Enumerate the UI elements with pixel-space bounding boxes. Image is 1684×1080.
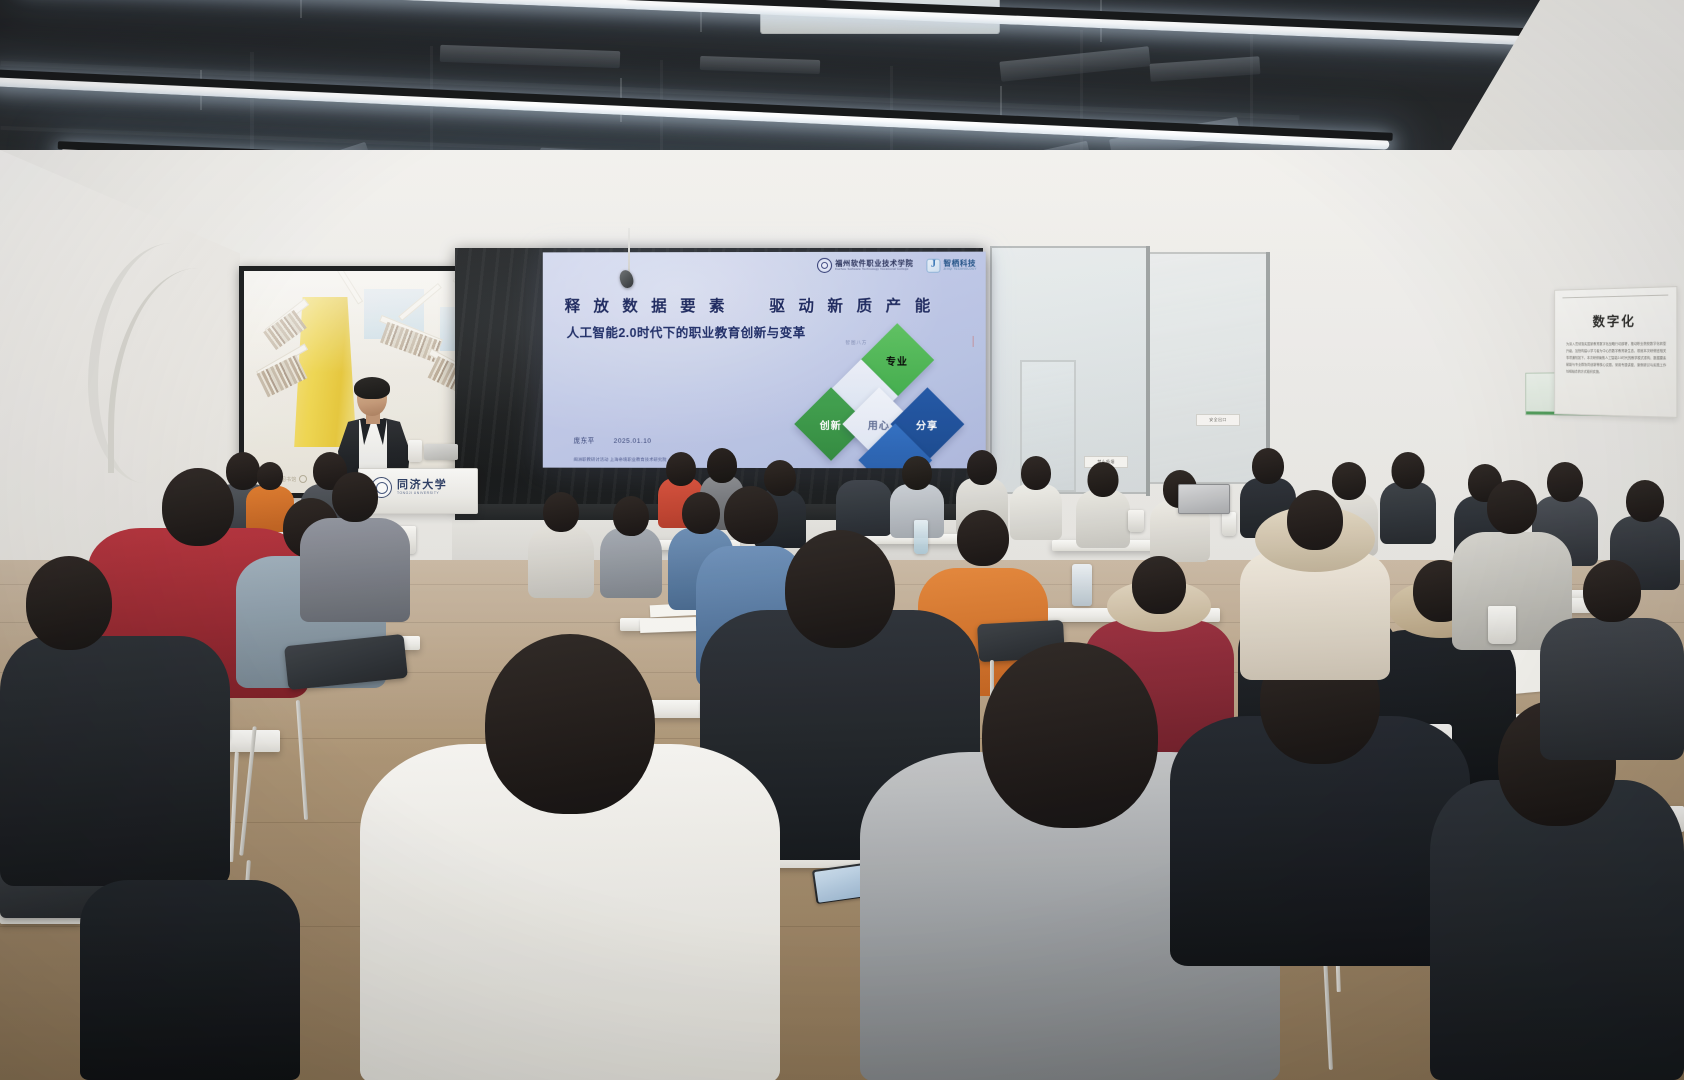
lecture-hall-scene: 请保持安静 禁止吸烟 安全出口 数字化 为深入贯彻落实国家教育数字化战略行动部署… [0, 0, 1684, 1080]
slide-logo-row: 福州软件职业技术学院 Fuzhou Software Technology Vo… [817, 258, 977, 273]
audience-member [1170, 636, 1470, 966]
company-logo: 智栖科技 ZHIQI TECHNOLOGY [926, 258, 976, 272]
paper-cup [1128, 510, 1144, 532]
audience-member [836, 452, 892, 536]
audience-member [1240, 490, 1390, 680]
slide-footnotes: 闽洲职教研讨活动 上海帝境职业教育技术研究院 [574, 456, 667, 463]
audience-member [300, 472, 410, 622]
company-name-en: ZHIQI TECHNOLOGY [943, 268, 976, 271]
audience-member [0, 556, 230, 886]
audience-member [360, 634, 780, 1080]
slide-value-diamonds: 专业 创新 用心 分享 [789, 336, 980, 468]
wall-sign-label: 安全出口 [1209, 417, 1227, 423]
slide-subtitle: 人工智能2.0时代下的职业教育创新与变革 [567, 322, 806, 341]
audience-member [600, 496, 662, 598]
audience-member [1076, 462, 1130, 548]
slide-byline: 庞东平 2025.01.10 [574, 435, 652, 445]
paper-cup [1488, 606, 1516, 644]
presentation-slide: 福州软件职业技术学院 Fuzhou Software Technology Vo… [543, 252, 986, 469]
wall-sign-exit: 安全出口 [1196, 414, 1240, 426]
microphone-cable [628, 228, 630, 274]
institute-logo: 福州软件职业技术学院 Fuzhou Software Technology Vo… [817, 258, 913, 273]
poster-title: 数字化 [1555, 310, 1676, 331]
poster-body: 为深入贯彻落实国家教育数字化战略行动部署，推动职业院校数字化转型升级，加快构建以… [1566, 341, 1666, 377]
slide-title: 释 放 数 据 要 素 驱 动 新 质 产 能 [565, 294, 935, 316]
slide-date: 2025.01.10 [614, 438, 652, 445]
laptop[interactable] [1178, 484, 1230, 514]
university-seal-icon [817, 258, 832, 273]
podium-thermos [408, 440, 422, 462]
diamond-label: 创新 [820, 417, 842, 432]
slide-presenter: 庞东平 [574, 435, 595, 445]
diamond-label: 专业 [886, 352, 908, 367]
paper-cup [1222, 512, 1236, 536]
audience-member [528, 492, 594, 598]
diamond-label: 分享 [916, 417, 938, 432]
institute-name-en: Fuzhou Software Technology Vocational Co… [835, 267, 913, 270]
audience-member [80, 840, 300, 1080]
podium-laptop [424, 444, 458, 460]
company-mark-icon [926, 258, 940, 272]
notebook [640, 617, 696, 633]
audience-member [1540, 560, 1684, 760]
wall-poster: 数字化 为深入贯彻落实国家教育数字化战略行动部署，推动职业院校数字化转型升级，加… [1554, 286, 1677, 418]
diamond-label: 用心 [868, 417, 890, 432]
